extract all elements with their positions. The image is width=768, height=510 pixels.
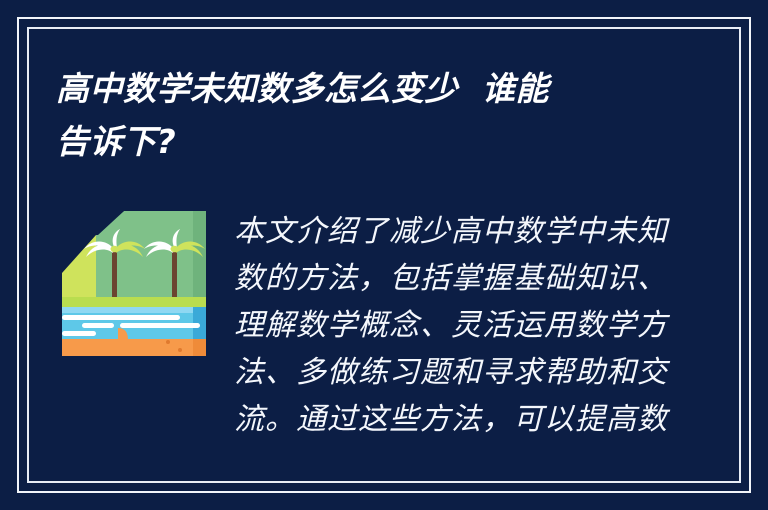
sand-base: [62, 339, 206, 356]
beach-scene-svg: [62, 211, 206, 356]
palm-trunk-left: [112, 249, 117, 299]
body-line-4: 法、多做练习题和寻求帮助和交: [234, 349, 664, 396]
body-paragraph: 本文介绍了减少高中数学中未知 数的方法，包括掌握基础知识、 理解数学概念、灵活运…: [234, 208, 664, 443]
sand-edge-strip: [193, 339, 206, 356]
body-line-1: 本文介绍了减少高中数学中未知: [234, 208, 664, 255]
grass-band: [62, 297, 206, 307]
tropical-beach-illustration: [62, 211, 206, 356]
title-line-1: 高中数学未知数多怎么变少 谁能: [56, 62, 696, 115]
title-line-2: 告诉下?: [56, 115, 696, 168]
hill-shadow-strip: [193, 211, 206, 306]
body-line-3: 理解数学概念、灵活运用数学方: [234, 302, 664, 349]
foam-line-4: [62, 331, 96, 336]
poster-canvas: 高中数学未知数多怎么变少 谁能 告诉下?: [0, 0, 768, 510]
sand-dot-2: [178, 348, 182, 352]
foam-line-2: [82, 323, 114, 328]
page-title: 高中数学未知数多怎么变少 谁能 告诉下?: [56, 62, 696, 168]
foam-line-1: [62, 315, 180, 320]
palm-crown-left: [111, 246, 119, 252]
water-shallow-band: [62, 307, 206, 313]
sand-dot-1: [166, 340, 170, 344]
foam-line-3: [120, 323, 200, 328]
body-line-2: 数的方法，包括掌握基础知识、: [234, 255, 664, 302]
palm-trunk-right: [172, 249, 177, 299]
palm-crown-right: [171, 246, 179, 252]
body-line-5: 流。通过这些方法，可以提高数: [234, 396, 664, 443]
beach-scene-group: [62, 211, 206, 356]
